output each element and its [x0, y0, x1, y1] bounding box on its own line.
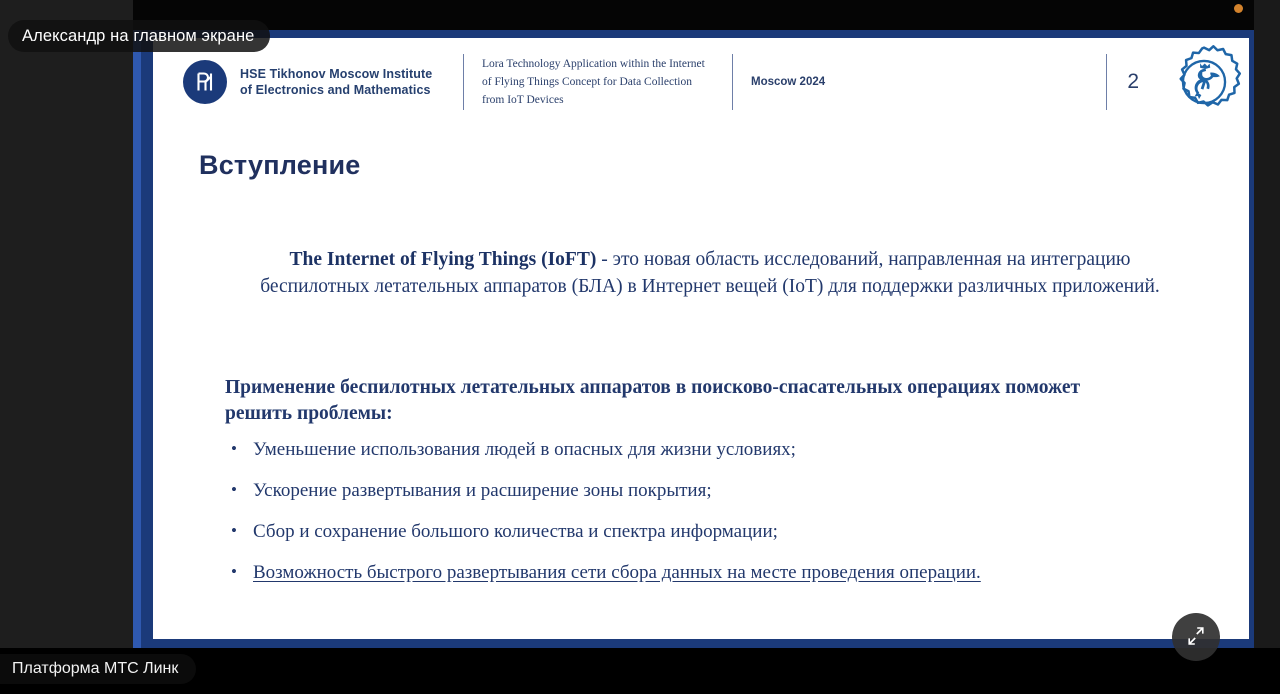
- lead-paragraph-strong: The Internet of Flying Things (IoFT): [290, 249, 597, 270]
- video-backdrop-left: [0, 0, 133, 694]
- slide-frame: HSE Tikhonov Moscow Institute of Electro…: [133, 30, 1254, 648]
- header-divider-1: [463, 54, 464, 110]
- conference-place: Moscow 2024: [751, 76, 825, 88]
- list-item-text: Уменьшение использования людей в опасных…: [253, 439, 796, 460]
- sub-heading: Применение беспилотных летательных аппар…: [225, 375, 1125, 427]
- list-item-text: Ускорение развертывания и расширение зон…: [253, 480, 712, 501]
- list-item: Уменьшение использования людей в опасных…: [229, 438, 1169, 462]
- slide-header: HSE Tikhonov Moscow Institute of Electro…: [153, 38, 1249, 126]
- fullscreen-button[interactable]: [1172, 613, 1220, 661]
- hse-monogram-logo-icon: [183, 60, 227, 104]
- presenter-name-badge: Александр на главном экране: [8, 20, 270, 52]
- list-item-text: Возможность быстрого развертывания сети …: [253, 562, 981, 583]
- organization-name: HSE Tikhonov Moscow Institute of Electro…: [240, 66, 445, 98]
- header-divider-2: [732, 54, 733, 110]
- bullet-list: Уменьшение использования людей в опасных…: [229, 438, 1169, 602]
- list-item-text: Сбор и сохранение большого количества и …: [253, 521, 778, 542]
- griffin-gear-emblem-icon: [1165, 43, 1243, 121]
- video-backdrop-top: [133, 0, 1280, 30]
- platform-label-badge: Платформа МТС Линк: [0, 654, 196, 684]
- screen-share-view: HSE Tikhonov Moscow Institute of Electro…: [0, 0, 1280, 694]
- header-divider-3: [1106, 54, 1107, 110]
- lead-paragraph: The Internet of Flying Things (IoFT) - э…: [235, 246, 1185, 300]
- expand-arrows-icon: [1186, 626, 1206, 649]
- page-number: 2: [1127, 70, 1139, 94]
- video-backdrop-right: [1254, 0, 1280, 694]
- paper-title: Lora Technology Application within the I…: [482, 55, 714, 109]
- recording-indicator-dot: [1234, 4, 1243, 13]
- list-item: Возможность быстрого развертывания сети …: [229, 561, 1169, 585]
- list-item: Ускорение развертывания и расширение зон…: [229, 479, 1169, 503]
- slide-title: Вступление: [199, 150, 360, 181]
- list-item: Сбор и сохранение большого количества и …: [229, 520, 1169, 544]
- presentation-slide: HSE Tikhonov Moscow Institute of Electro…: [153, 38, 1249, 639]
